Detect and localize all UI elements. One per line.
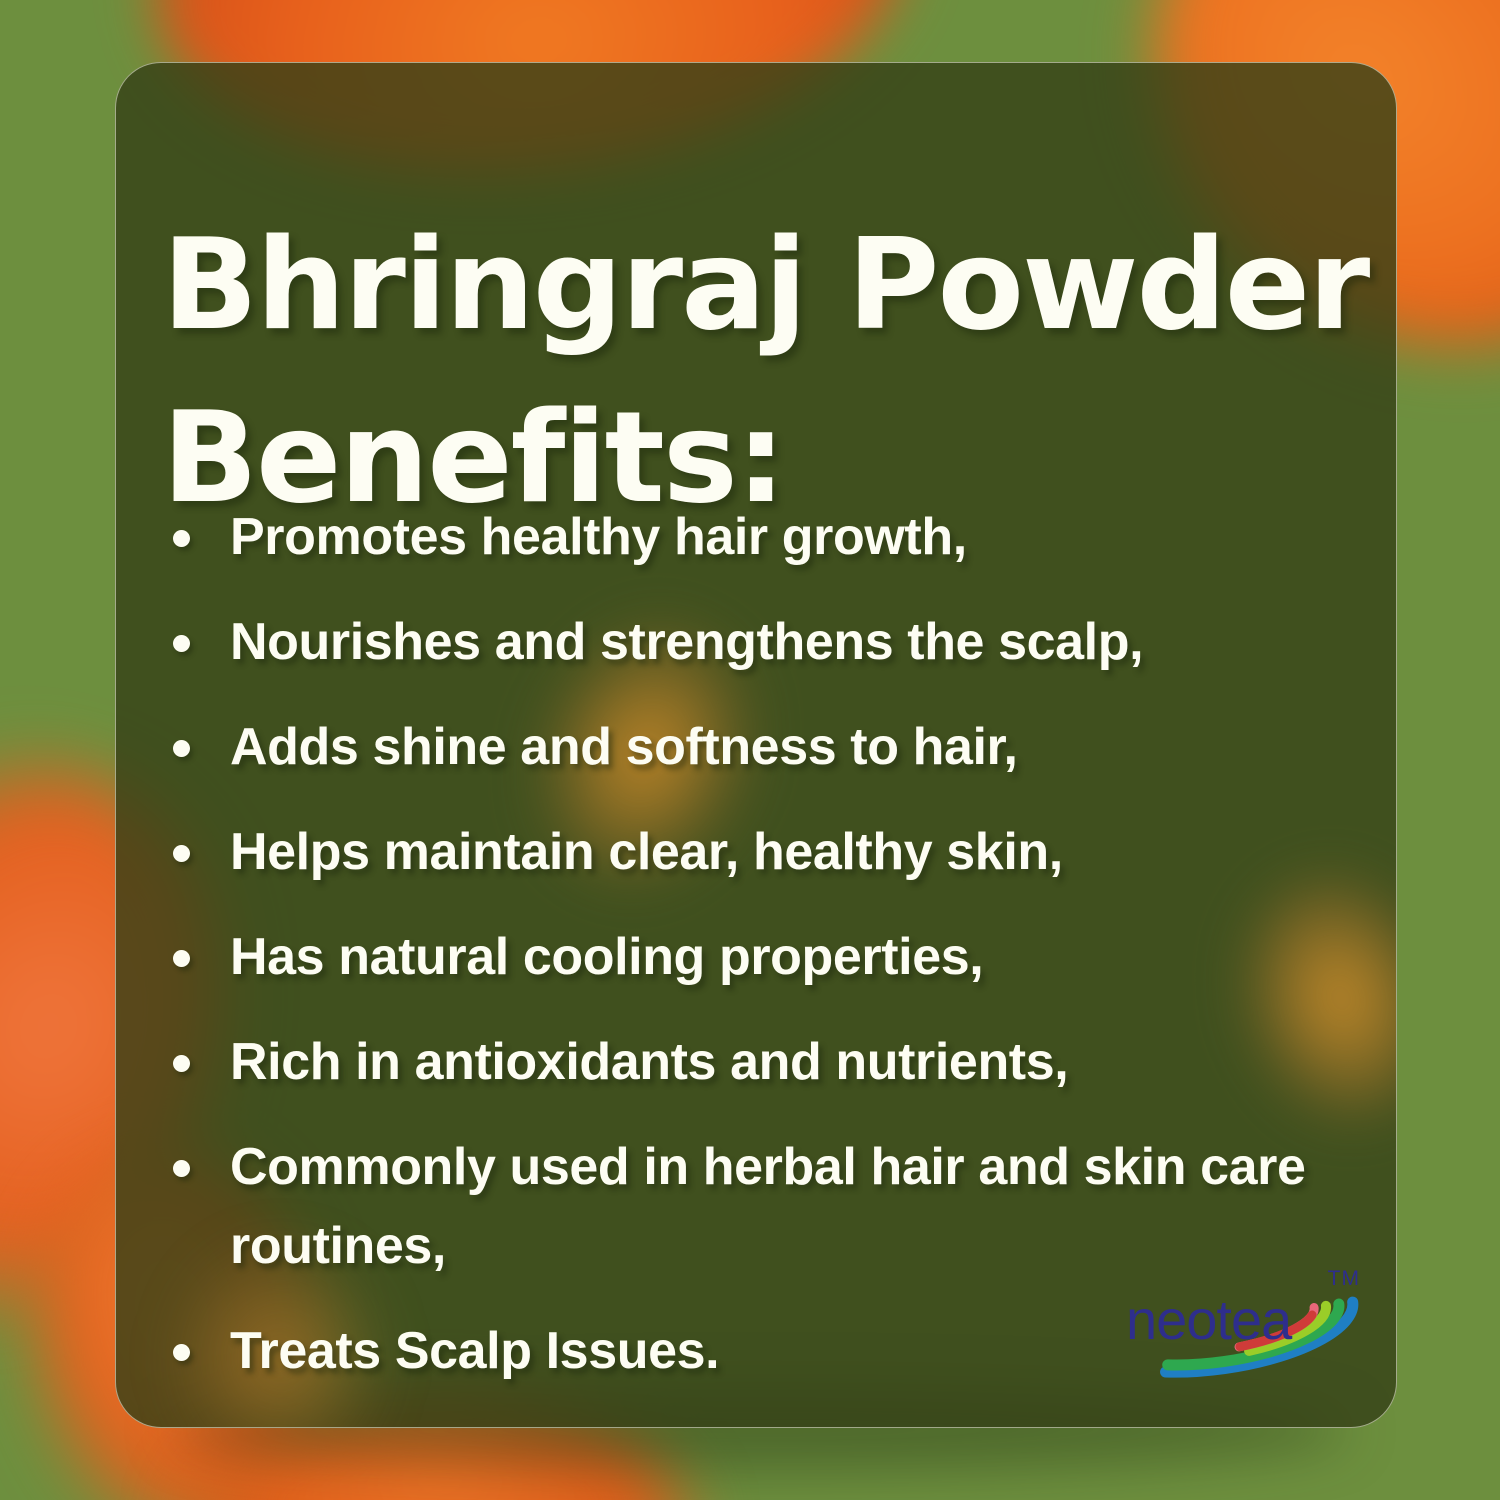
poster-canvas: Bhringraj Powder Benefits: Promotes heal… [0, 0, 1500, 1500]
trademark-symbol: TM [1328, 1267, 1360, 1291]
list-item: Helps maintain clear, healthy skin, [144, 813, 1394, 892]
neotea-logo: neotea TM [1066, 1259, 1366, 1379]
list-item: Promotes healthy hair growth, [144, 498, 1394, 577]
page-title: Bhringraj Powder Benefits: [162, 199, 1372, 544]
neotea-wordmark: neotea [1126, 1288, 1293, 1351]
list-item: Has natural cooling properties, [144, 918, 1394, 997]
neotea-swoosh-icon: neotea [1066, 1259, 1366, 1379]
list-item: Nourishes and strengthens the scalp, [144, 603, 1394, 682]
benefits-card: Bhringraj Powder Benefits: Promotes heal… [115, 62, 1397, 1428]
page-title-line-1: Bhringraj Powder [162, 199, 1372, 372]
list-item: Rich in antioxidants and nutrients, [144, 1023, 1394, 1102]
list-item: Adds shine and softness to hair, [144, 708, 1394, 787]
